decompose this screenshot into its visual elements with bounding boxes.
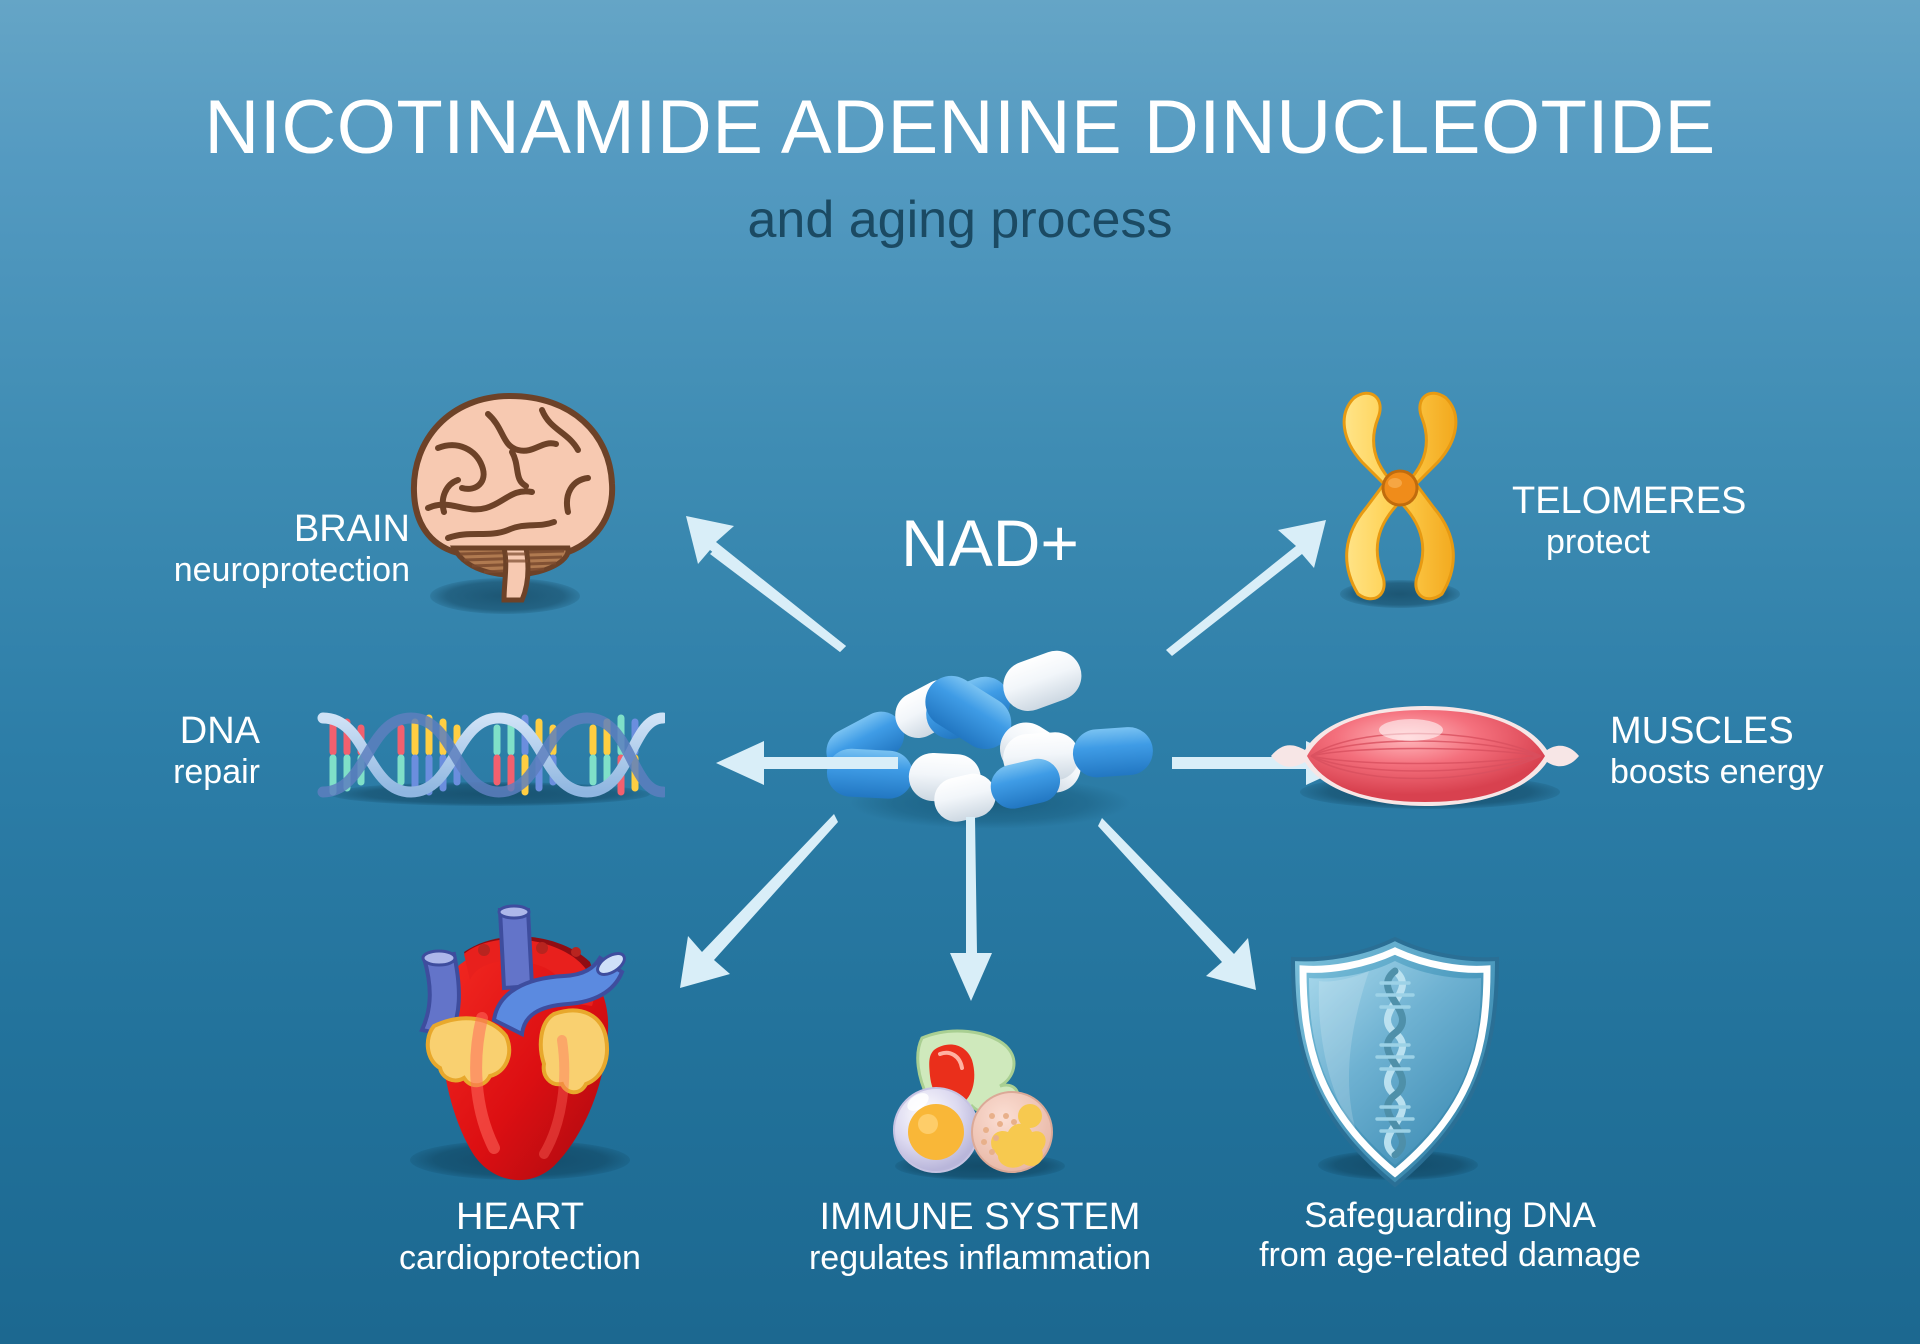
chromosome-icon <box>1320 388 1480 608</box>
heart-title: HEART <box>270 1196 770 1239</box>
nad-plus-label: NAD+ <box>860 505 1120 581</box>
brain-description: neuroprotection <box>110 551 410 590</box>
muscle-icon <box>1265 700 1585 810</box>
muscles-title: MUSCLES <box>1610 710 1920 753</box>
safeguarding-dna-description: from age-related damage <box>1140 1236 1760 1275</box>
heart-organ-icon <box>378 890 688 1190</box>
telomeres-title: TELOMERES <box>1512 480 1872 523</box>
immune-cells-icon <box>880 1020 1070 1180</box>
brain-label: BRAIN neuroprotection <box>110 508 410 590</box>
muscles-description: boosts energy <box>1610 753 1920 792</box>
dna-label: DNA repair <box>20 710 260 792</box>
page-subtitle: and aging process <box>0 190 1920 250</box>
arrow-down-right <box>1098 812 1288 1002</box>
brain-icon <box>392 388 632 608</box>
muscles-label: MUSCLES boosts energy <box>1610 710 1920 792</box>
brain-title: BRAIN <box>110 508 410 551</box>
infographic-canvas: NICOTINAMIDE ADENINE DINUCLEOTIDE and ag… <box>0 0 1920 1344</box>
page-title: NICOTINAMIDE ADENINE DINUCLEOTIDE <box>0 84 1920 171</box>
dna-description: repair <box>20 753 260 792</box>
heart-label: HEART cardioprotection <box>270 1196 770 1278</box>
safeguarding-dna-title: Safeguarding DNA <box>1140 1196 1760 1236</box>
shield-dna-icon <box>1285 935 1505 1190</box>
arrow-down <box>942 815 998 1005</box>
arrow-up-left <box>660 510 850 650</box>
dna-title: DNA <box>20 710 260 753</box>
heart-description: cardioprotection <box>270 1239 770 1278</box>
dna-helix-icon <box>315 700 665 810</box>
pill-capsules-icon <box>805 605 1165 835</box>
telomeres-label: TELOMERES protect <box>1512 480 1872 562</box>
arrow-left <box>710 735 900 791</box>
safeguarding-dna-label: Safeguarding DNA from age-related damage <box>1140 1196 1760 1275</box>
telomeres-description: protect <box>1512 523 1872 562</box>
